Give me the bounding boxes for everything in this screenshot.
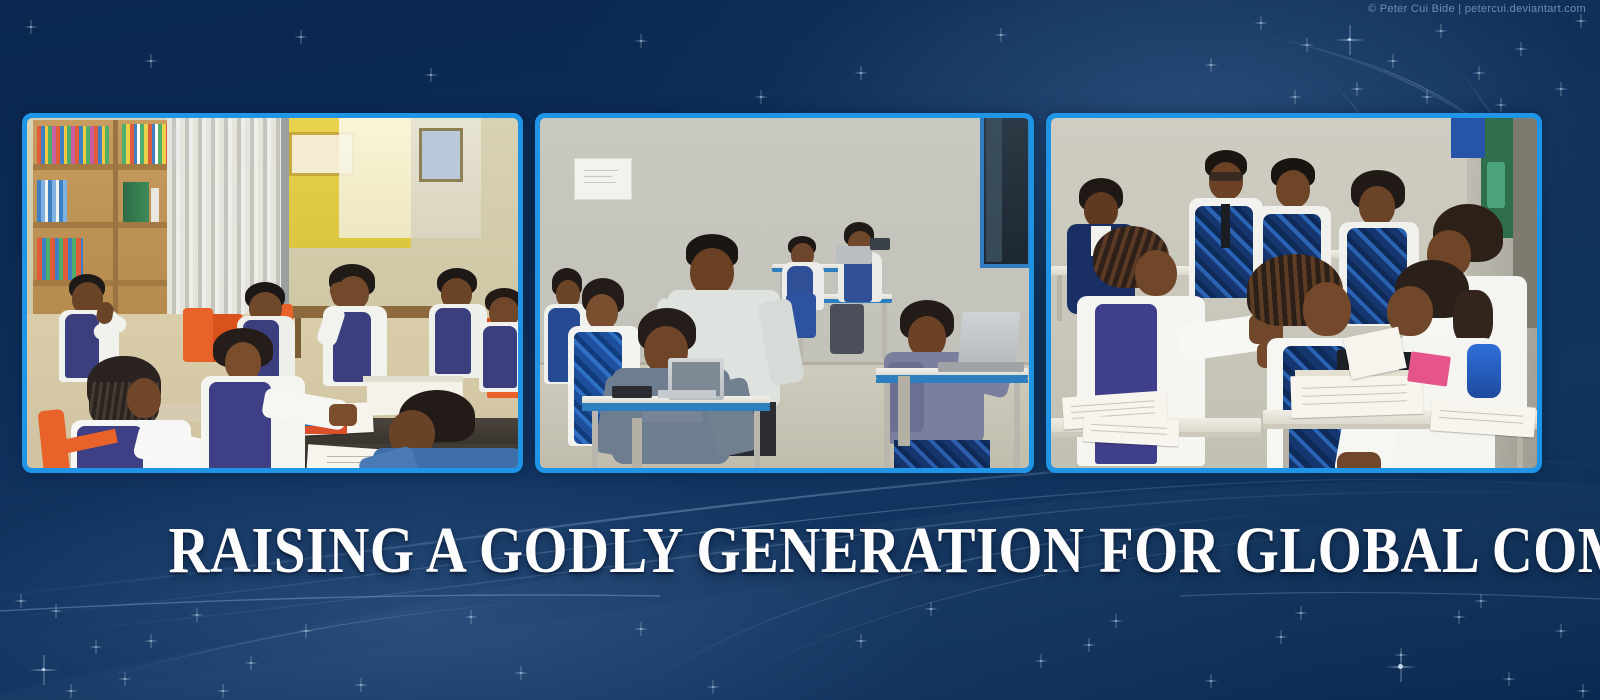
- photo-computer-class-scene: [540, 118, 1029, 468]
- photo-group-discussion-scene: [1051, 118, 1537, 468]
- photo-computer-class[interactable]: [535, 113, 1034, 473]
- photo-library-scene: [27, 118, 518, 468]
- copyright-watermark: © Peter Cui Bide | petercui.deviantart.c…: [1368, 3, 1586, 15]
- photo-group-discussion[interactable]: [1046, 113, 1542, 473]
- banner-headline-container: RAISING A GODLY GENERATION FOR GLOBAL CO…: [0, 518, 1600, 584]
- banner-headline: RAISING A GODLY GENERATION FOR GLOBAL CO…: [169, 518, 1600, 584]
- photo-strip: [22, 113, 1542, 473]
- school-banner: RAISING A GODLY GENERATION FOR GLOBAL CO…: [0, 0, 1600, 700]
- photo-library-study[interactable]: [22, 113, 523, 473]
